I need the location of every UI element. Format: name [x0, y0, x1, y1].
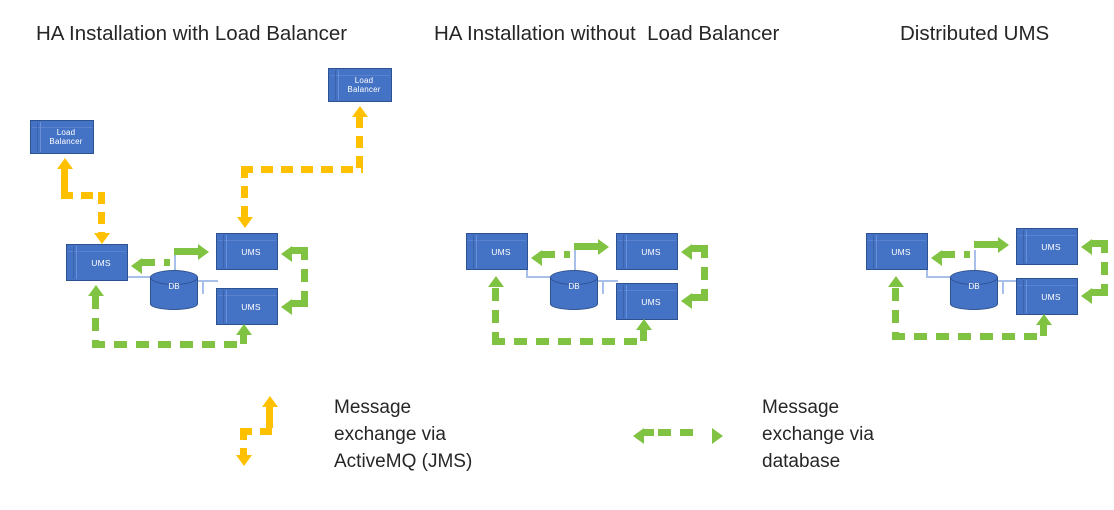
db-segment-v-left-2 [492, 288, 499, 341]
node-edge-left [73, 246, 74, 279]
node-edge-left [1023, 280, 1024, 313]
jms-segment-v-3 [356, 116, 363, 168]
ums-label: UMS [227, 289, 275, 324]
jms-segment-h-2 [241, 166, 363, 173]
ums-label: UMS [227, 234, 275, 269]
ums-label: UMS [1027, 229, 1075, 264]
db-segment-h-mid-1 [142, 259, 170, 266]
ums-label: UMS [77, 245, 125, 280]
load-balancer-label: Load Balancer [41, 121, 91, 153]
ums-label: UMS [477, 234, 525, 269]
db-arrowhead-left-1 [131, 258, 142, 274]
db-arrowhead-left-top-1 [281, 246, 292, 262]
db-wire-right-h-2 [596, 280, 618, 282]
db-arrowhead-right-3 [998, 237, 1009, 253]
db-segment-h-r2-1 [292, 300, 308, 307]
database-cylinder-1: DB [150, 270, 198, 310]
db-segment-v-right-3 [1101, 240, 1108, 292]
db-segment-h-bottom-1 [92, 341, 244, 348]
db-arrowhead-left-top-3 [1081, 239, 1092, 255]
db-wire-right-h-3 [996, 280, 1018, 282]
ums-label: UMS [627, 234, 675, 269]
db-wire-right-h-1 [196, 280, 218, 282]
db-segment-h-r2-3 [1092, 289, 1108, 296]
legend-db-segment-left [644, 429, 654, 436]
db-segment-h-bottom-3 [892, 333, 1044, 340]
node-edge-left [623, 285, 624, 318]
db-arrowhead-right-2 [598, 239, 609, 255]
db-segment-v-right-1 [301, 247, 308, 303]
node-edge-left [1023, 230, 1024, 263]
jms-segment-v-1 [61, 168, 68, 193]
db-segment-h-bottom-2 [492, 338, 644, 345]
ums-box-left-3: UMS [866, 233, 928, 270]
db-wire-right-v-2 [602, 280, 604, 294]
ums-label: UMS [627, 284, 675, 319]
legend-label-database: Message exchange via database [762, 394, 952, 475]
db-arrowhead-left-3 [931, 250, 942, 266]
legend-label-jms: Message exchange via ActiveMQ (JMS) [334, 394, 514, 475]
group-title-ha-without-lb: HA Installation without Load Balancer [434, 21, 779, 47]
ums-box-bottom-3: UMS [1016, 278, 1078, 315]
db-segment-h-mid-up-3 [974, 241, 998, 248]
node-edge-left [623, 235, 624, 268]
db-segment-h-mid-2 [542, 251, 570, 258]
db-arrowhead-left-bot-1 [281, 299, 292, 315]
db-arrowhead-left-bot-2 [681, 293, 692, 309]
db-wire-right-v-3 [1002, 280, 1004, 294]
load-balancer-box-1: Load Balancer [30, 120, 94, 154]
ums-box-bottom-1: UMS [216, 288, 278, 325]
db-segment-h-mid-up-2 [574, 243, 598, 250]
ums-box-top-3: UMS [1016, 228, 1078, 265]
ums-label: UMS [1027, 279, 1075, 314]
db-arrowhead-up-left-2 [488, 276, 504, 287]
load-balancer-label: Load Balancer [339, 69, 389, 101]
database-label: DB [950, 282, 998, 292]
node-edge-left [873, 235, 874, 268]
database-label: DB [550, 282, 598, 292]
db-segment-h-mid-3 [942, 251, 970, 258]
db-segment-h-mid-up-1 [174, 248, 198, 255]
db-segment-v-left-3 [892, 288, 899, 336]
group-title-distributed-ums: Distributed UMS [900, 21, 1049, 47]
legend-db-arrowhead-left [633, 428, 644, 444]
db-arrowhead-up-left-1 [88, 285, 104, 296]
db-arrowhead-up-left-3 [888, 276, 904, 287]
diagram-canvas: HA Installation with Load Balancer HA In… [0, 0, 1114, 510]
node-edge-left [223, 235, 224, 268]
ums-box-top-2: UMS [616, 233, 678, 270]
legend-db-segment-mid [658, 429, 694, 436]
db-segment-v-right-2 [701, 245, 708, 297]
db-arrowhead-left-bot-3 [1081, 288, 1092, 304]
legend-jms-segment-v-bot [240, 428, 247, 456]
jms-segment-v-2 [98, 192, 105, 236]
ums-box-bottom-2: UMS [616, 283, 678, 320]
database-cylinder-3: DB [950, 270, 998, 310]
ums-box-top-1: UMS [216, 233, 278, 270]
jms-segment-v-4 [241, 166, 248, 220]
ums-box-left-2: UMS [466, 233, 528, 270]
database-cylinder-2: DB [550, 270, 598, 310]
group-title-ha-with-lb: HA Installation with Load Balancer [36, 21, 347, 47]
db-segment-v-left-1 [92, 296, 99, 344]
db-arrowhead-left-2 [531, 250, 542, 266]
load-balancer-box-2: Load Balancer [328, 68, 392, 102]
database-label: DB [150, 282, 198, 292]
db-segment-h-r2-2 [692, 294, 708, 301]
db-arrowhead-left-top-2 [681, 244, 692, 260]
ums-label: UMS [877, 234, 925, 269]
jms-arrowhead-down-2 [237, 217, 253, 228]
db-wire-right-v-1 [202, 280, 204, 294]
jms-arrowhead-down-1 [94, 233, 110, 244]
ums-box-left-1: UMS [66, 244, 128, 281]
node-edge-left [223, 290, 224, 323]
node-edge-left [335, 70, 336, 100]
node-edge-left [473, 235, 474, 268]
db-arrowhead-right-1 [198, 244, 209, 260]
node-edge-left [37, 122, 38, 152]
legend-jms-arrowhead-down [236, 455, 252, 466]
legend-jms-segment-v-top [266, 406, 273, 428]
legend-db-arrowhead-right [712, 428, 723, 444]
